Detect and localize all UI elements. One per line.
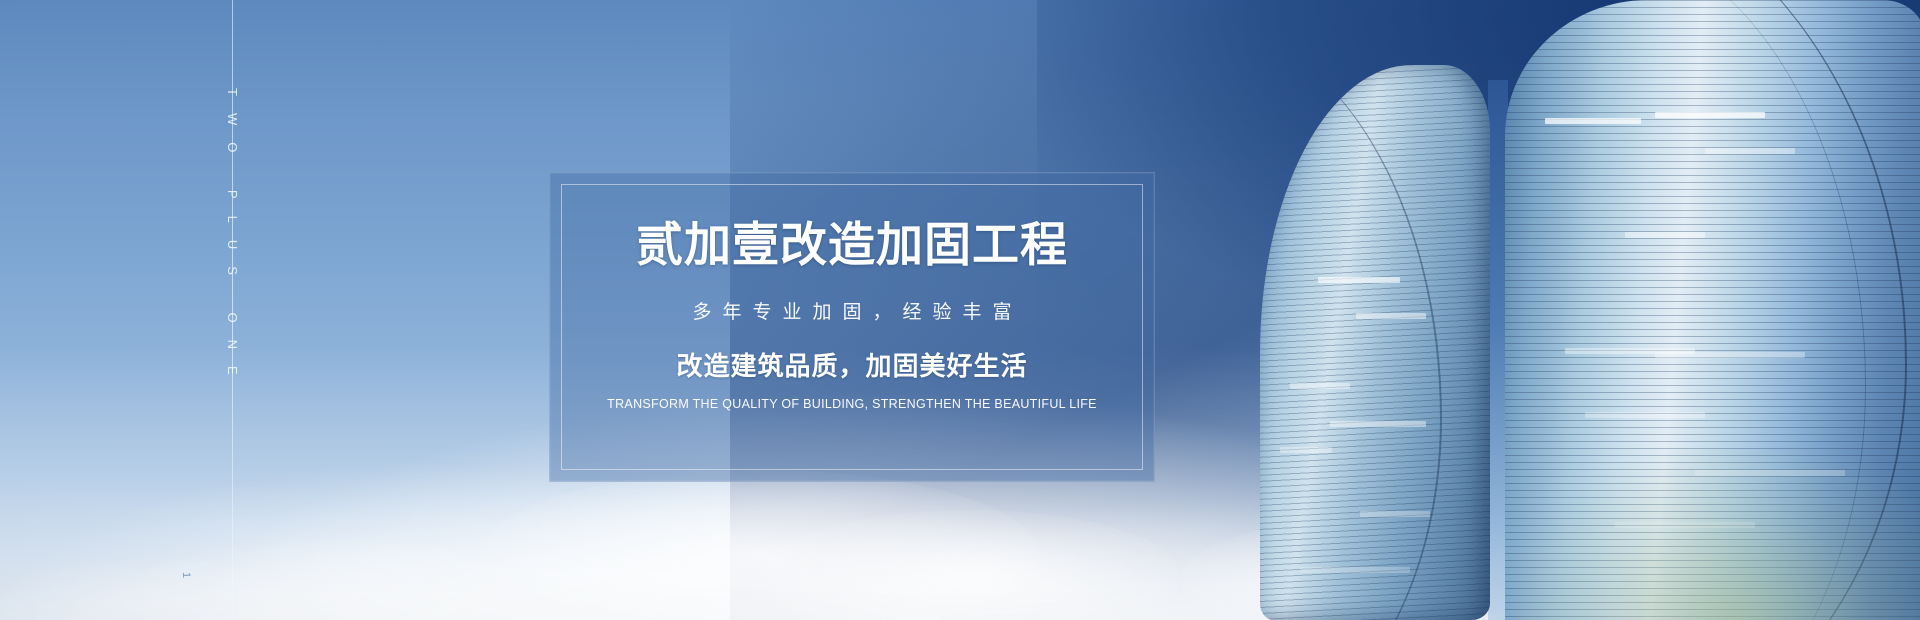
- window-strip: [1545, 118, 1641, 124]
- window-strip: [1356, 313, 1426, 319]
- page-title: 贰加壹改造加固工程: [636, 219, 1068, 271]
- window-strip: [1695, 470, 1845, 476]
- slogan-english: TRANSFORM THE QUALITY OF BUILDING, STREN…: [607, 397, 1097, 411]
- headline-panel: 贰加壹改造加固工程 多年专业加固，经验丰富 改造建筑品质，加固美好生活 TRAN…: [549, 172, 1155, 482]
- window-strip: [1655, 112, 1765, 118]
- headline-panel-content: 贰加壹改造加固工程 多年专业加固，经验丰富 改造建筑品质，加固美好生活 TRAN…: [550, 173, 1154, 481]
- brand-vertical-text: TWO PLUS ONE: [225, 88, 240, 392]
- tower-small: [1260, 65, 1490, 620]
- window-strip: [1300, 567, 1410, 573]
- tower-large: [1505, 0, 1920, 620]
- window-strip: [1565, 348, 1695, 354]
- window-strip: [1615, 522, 1755, 528]
- skyscraper-photo: [1220, 0, 1920, 620]
- window-strip: [1318, 277, 1400, 283]
- hero-banner: TWO PLUS ONE 1 贰加壹改造加固工程 多年专业加固，经验丰富 改造建…: [0, 0, 1920, 620]
- window-strip: [1585, 412, 1705, 418]
- slogan: 改造建筑品质，加固美好生活: [676, 346, 1027, 383]
- subheadline: 多年专业加固，经验丰富: [681, 297, 1022, 324]
- window-strip: [1360, 511, 1430, 517]
- tower-floor-lines: [1505, 0, 1920, 620]
- corner-mark: 1: [180, 572, 192, 580]
- window-strip: [1330, 421, 1426, 427]
- tower-floor-lines: [1260, 65, 1490, 620]
- window-strip: [1705, 148, 1795, 154]
- window-strip: [1655, 352, 1805, 358]
- window-strip: [1290, 383, 1350, 389]
- window-strip: [1280, 447, 1332, 453]
- window-strip: [1625, 232, 1705, 238]
